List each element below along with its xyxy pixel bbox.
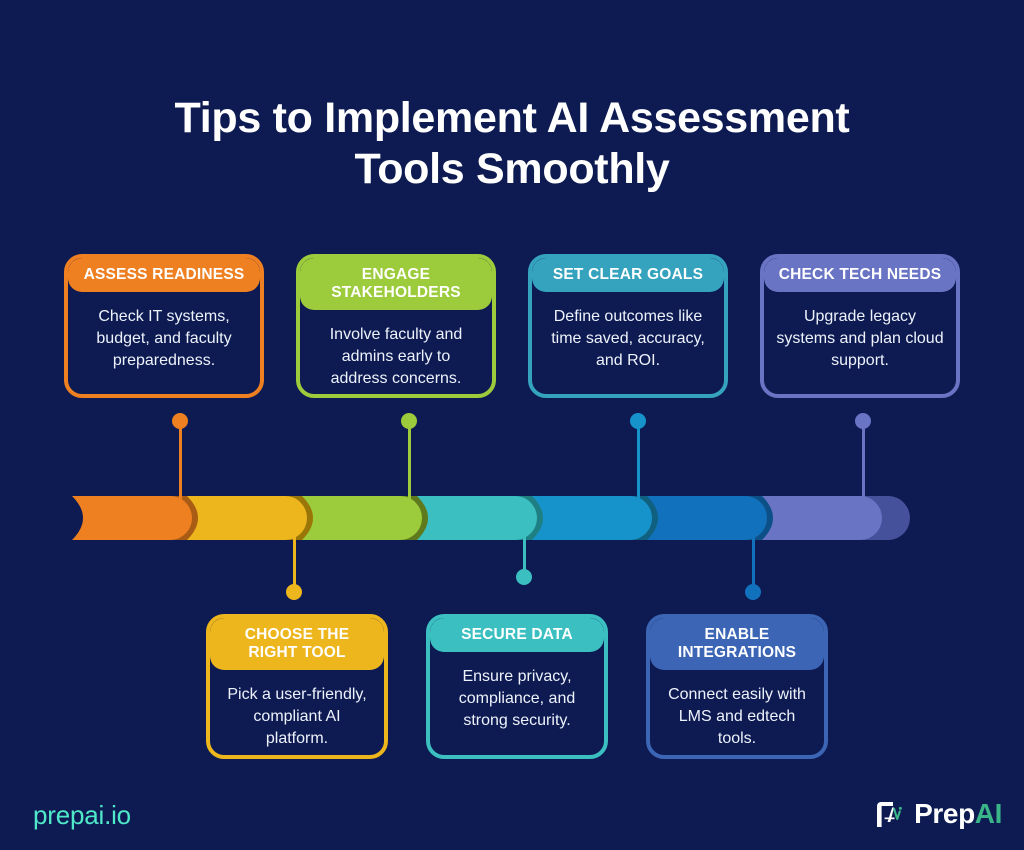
top-card-body: Involve faculty and admins early to addr…	[300, 310, 492, 398]
top-card[interactable]: ENGAGE STAKEHOLDERSInvolve faculty and a…	[296, 254, 496, 398]
connector-line	[179, 421, 182, 518]
bottom-card[interactable]: SECURE DATAEnsure privacy, compliance, a…	[426, 614, 608, 759]
bottom-card-body: Ensure privacy, compliance, and strong s…	[430, 652, 604, 744]
logo-ai-text: AI	[975, 798, 1002, 829]
connector-line	[862, 421, 865, 518]
prepai-wordmark: PrepAI	[914, 798, 1002, 830]
bottom-card[interactable]: ENABLE INTEGRATIONSConnect easily with L…	[646, 614, 828, 759]
logo-prep-text: Prep	[914, 798, 975, 829]
connector-end-dot	[630, 413, 646, 429]
arrow-segments-layer	[72, 496, 910, 540]
connector-line	[637, 421, 640, 518]
connector-end-dot	[401, 413, 417, 429]
prepai-mark-icon	[873, 798, 905, 830]
top-card-body: Upgrade legacy systems and plan cloud su…	[764, 292, 956, 384]
connector-end-dot	[172, 413, 188, 429]
top-card[interactable]: ASSESS READINESSCheck IT systems, budget…	[64, 254, 264, 398]
top-card-header: CHECK TECH NEEDS	[764, 258, 956, 292]
connector-end-dot	[286, 584, 302, 600]
top-card[interactable]: CHECK TECH NEEDSUpgrade legacy systems a…	[760, 254, 960, 398]
bottom-card[interactable]: CHOOSE THE RIGHT TOOLPick a user-friendl…	[206, 614, 388, 759]
connector-end-dot	[745, 584, 761, 600]
top-card-header: SET CLEAR GOALS	[532, 258, 724, 292]
top-card-body: Define outcomes like time saved, accurac…	[532, 292, 724, 384]
top-card-header: ASSESS READINESS	[68, 258, 260, 292]
connector-line	[293, 518, 296, 592]
arrow-bar-svg	[0, 470, 1024, 560]
top-card[interactable]: SET CLEAR GOALSDefine outcomes like time…	[528, 254, 728, 398]
bottom-card-body: Pick a user-friendly, compliant AI platf…	[210, 670, 384, 759]
process-arrow-bar	[0, 470, 1024, 560]
bottom-card-body: Connect easily with LMS and edtech tools…	[650, 670, 824, 759]
site-url-label: prepai.io	[33, 800, 131, 831]
bottom-card-header: ENABLE INTEGRATIONS	[650, 618, 824, 670]
top-card-header: ENGAGE STAKEHOLDERS	[300, 258, 492, 310]
connector-end-dot	[516, 569, 532, 585]
page-title: Tips to Implement AI Assessment Tools Sm…	[0, 93, 1024, 194]
connector-line	[752, 518, 755, 592]
top-card-body: Check IT systems, budget, and faculty pr…	[68, 292, 260, 384]
prepai-logo: PrepAI	[873, 798, 1002, 830]
bottom-card-header: SECURE DATA	[430, 618, 604, 652]
connector-end-dot	[855, 413, 871, 429]
bottom-card-header: CHOOSE THE RIGHT TOOL	[210, 618, 384, 670]
connector-line	[408, 421, 411, 518]
